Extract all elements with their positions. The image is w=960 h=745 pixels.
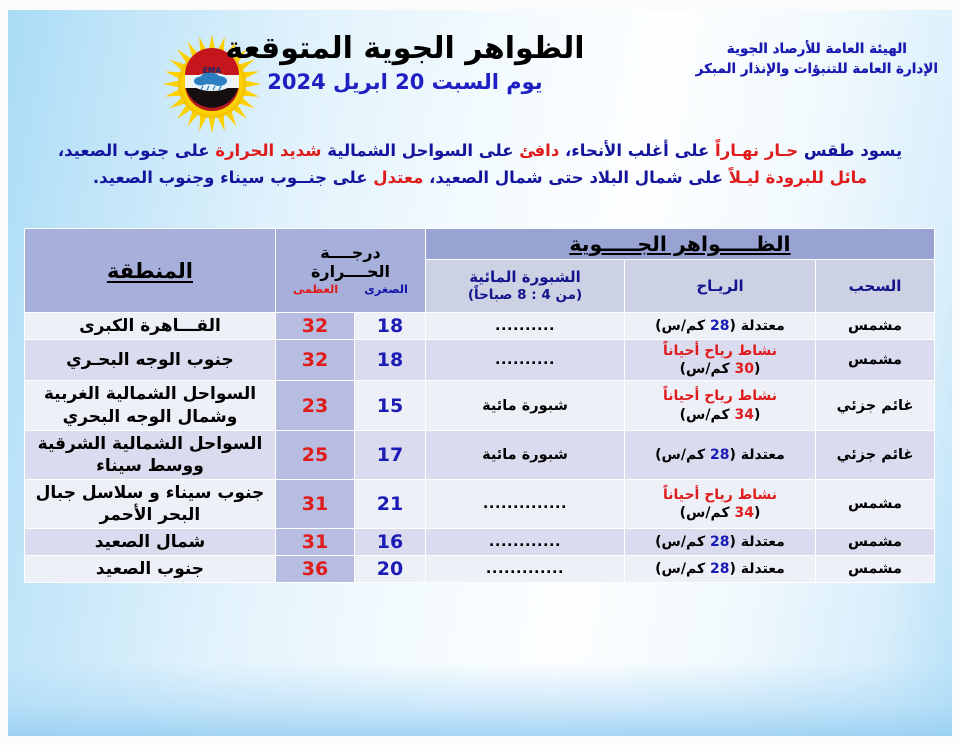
summary-seg-highlight: حـار نهـاراً	[715, 141, 798, 160]
wind-unit: كم/س	[662, 534, 706, 550]
wind-speed: 34	[734, 407, 753, 423]
summary-seg: على جنوب الصعيد،	[58, 141, 215, 160]
cell-clouds: مشمس	[816, 529, 934, 555]
wind-unit: كم/س	[662, 318, 706, 334]
table-header-row-1: الظـــــواهر الجـــــوية درجــــة الحـــ…	[25, 229, 934, 259]
wind-speed: 28	[710, 534, 729, 550]
summary-seg: على السواحل الشمالية	[321, 141, 519, 160]
cell-region: شمال الصعيد	[25, 529, 275, 555]
wind-speed: 30	[734, 361, 753, 377]
wind-unit: كم/س	[662, 561, 706, 577]
forecast-table: الظـــــواهر الجـــــوية درجــــة الحـــ…	[24, 228, 935, 583]
cell-mist: ..............	[426, 480, 624, 528]
cell-temp-min: 17	[355, 431, 425, 479]
wind-unit: كم/س	[686, 505, 730, 521]
wind-unit: كم/س	[686, 361, 730, 377]
header-region: المنطقة	[25, 229, 275, 312]
cell-temp-max: 32	[276, 313, 354, 339]
summary-seg: يسود طقس	[798, 141, 902, 160]
cell-wind: نشاط رياح أحياناً(34 كم/س)	[625, 480, 815, 528]
wind-speed: 34	[734, 505, 753, 521]
cell-temp-min: 18	[355, 340, 425, 380]
header-temp-max: العظمى	[293, 283, 338, 297]
page-title: الظواهر الجوية المتوقعة	[8, 32, 802, 66]
cell-mist: .............	[426, 556, 624, 582]
wind-label: معتدلة	[741, 561, 785, 577]
cell-mist: شبورة مائية	[426, 381, 624, 429]
wind-speed: 28	[710, 318, 729, 334]
cell-region: جنوب الوجه البحـري	[25, 340, 275, 380]
cell-wind: معتدلة (28 كم/س)	[625, 313, 815, 339]
wind-label: معتدلة	[741, 447, 785, 463]
cell-wind: معتدلة (28 كم/س)	[625, 431, 815, 479]
cell-temp-min: 15	[355, 381, 425, 429]
header-temp-line1: درجــــة	[280, 244, 421, 263]
poster-header: الهيئة العامة للأرصاد الجوية الإدارة الع…	[8, 10, 952, 128]
summary-line-2: مائل للبرودة ليـلاً على شمال البلاد حتى …	[18, 165, 942, 192]
cell-temp-max: 31	[276, 480, 354, 528]
table-row: مشمسمعتدلة (28 كم/س)............1631شمال…	[25, 529, 934, 555]
cell-wind: معتدلة (28 كم/س)	[625, 529, 815, 555]
cell-temp-min: 16	[355, 529, 425, 555]
summary-seg-highlight: مائل للبرودة ليـلاً	[729, 168, 867, 187]
wind-unit: كم/س	[686, 407, 730, 423]
table-row: غائم جزئيمعتدلة (28 كم/س)شبورة مائية1725…	[25, 431, 934, 479]
table-row: مشمسنشاط رياح أحياناً(34 كم/س)..........…	[25, 480, 934, 528]
header-clouds: السحب	[816, 260, 934, 312]
summary-seg-highlight: معتدل	[373, 168, 423, 187]
cell-region: جنوب الصعيد	[25, 556, 275, 582]
cell-mist: ..........	[426, 340, 624, 380]
table-row: مشمسمعتدلة (28 كم/س).............2036جنو…	[25, 556, 934, 582]
wind-label: نشاط رياح أحياناً	[663, 343, 777, 359]
forecast-date: يوم السبت 20 ابريل 2024	[8, 69, 802, 96]
cell-temp-min: 18	[355, 313, 425, 339]
cell-temp-max: 25	[276, 431, 354, 479]
summary-seg-highlight: دافئ	[519, 141, 559, 160]
cell-clouds: مشمس	[816, 313, 934, 339]
cell-region: جنوب سيناء و سلاسل جبال البحر الأحمر	[25, 480, 275, 528]
summary-line-1: يسود طقس حـار نهـاراً على أغلب الأنحاء، …	[18, 138, 942, 165]
header-phenomena-group: الظـــــواهر الجـــــوية	[426, 229, 934, 259]
cell-region: السواحل الشمالية الشرقية ووسط سيناء	[25, 431, 275, 479]
forecast-summary: يسود طقس حـار نهـاراً على أغلب الأنحاء، …	[18, 138, 942, 191]
cell-temp-min: 21	[355, 480, 425, 528]
cell-mist: شبورة مائية	[426, 431, 624, 479]
forecast-table-wrapper: الظـــــواهر الجـــــوية درجــــة الحـــ…	[25, 228, 935, 583]
cell-region: القـــاهرة الكبرى	[25, 313, 275, 339]
header-temperature-group: درجــــة الحــــرارة الصغرى العظمى	[276, 229, 425, 312]
table-row: مشمسنشاط رياح أحياناً(30 كم/س)..........…	[25, 340, 934, 380]
poster-background: الهيئة العامة للأرصاد الجوية الإدارة الع…	[8, 10, 952, 736]
cell-clouds: مشمس	[816, 340, 934, 380]
cell-temp-max: 31	[276, 529, 354, 555]
cell-mist: ............	[426, 529, 624, 555]
wind-label: نشاط رياح أحياناً	[663, 388, 777, 404]
cell-temp-max: 32	[276, 340, 354, 380]
cell-temp-min: 20	[355, 556, 425, 582]
cell-clouds: غائم جزئي	[816, 431, 934, 479]
cell-mist: ..........	[426, 313, 624, 339]
header-mist-label: الشبورة المائية	[469, 268, 581, 286]
cell-clouds: غائم جزئي	[816, 381, 934, 429]
header-mist-time: (من 4 : 8 صباحاً)	[430, 287, 620, 304]
cell-wind: نشاط رياح أحياناً(34 كم/س)	[625, 381, 815, 429]
header-mist: الشبورة المائية (من 4 : 8 صباحاً)	[426, 260, 624, 312]
cell-region: السواحل الشمالية الغربية وشمال الوجه الب…	[25, 381, 275, 429]
header-wind: الريـاح	[625, 260, 815, 312]
wind-label: معتدلة	[741, 318, 785, 334]
cell-clouds: مشمس	[816, 480, 934, 528]
table-row: مشمسمعتدلة (28 كم/س)..........1832القـــ…	[25, 313, 934, 339]
header-temp-line2: الحــــرارة	[280, 263, 421, 282]
title-block: الظواهر الجوية المتوقعة يوم السبت 20 ابر…	[8, 32, 952, 96]
summary-seg: على أغلب الأنحاء،	[559, 141, 715, 160]
wind-unit: كم/س	[662, 447, 706, 463]
wind-label: معتدلة	[741, 534, 785, 550]
wind-speed: 28	[710, 561, 729, 577]
cell-temp-max: 36	[276, 556, 354, 582]
summary-seg: على شمال البلاد حتى شمال الصعيد،	[423, 168, 728, 187]
cell-clouds: مشمس	[816, 556, 934, 582]
cell-temp-max: 23	[276, 381, 354, 429]
header-temp-min: الصغرى	[364, 283, 408, 297]
cell-wind: نشاط رياح أحياناً(30 كم/س)	[625, 340, 815, 380]
wind-label: نشاط رياح أحياناً	[663, 487, 777, 503]
cell-wind: معتدلة (28 كم/س)	[625, 556, 815, 582]
forecast-table-body: مشمسمعتدلة (28 كم/س)..........1832القـــ…	[25, 313, 934, 582]
table-row: غائم جزئينشاط رياح أحياناً(34 كم/س)شبورة…	[25, 381, 934, 429]
summary-seg-highlight: شديد الحرارة	[215, 141, 321, 160]
wind-speed: 28	[710, 447, 729, 463]
weather-forecast-poster: الهيئة العامة للأرصاد الجوية الإدارة الع…	[0, 0, 960, 745]
summary-seg: على جنــوب سيناء وجنوب الصعيد.	[93, 168, 373, 187]
